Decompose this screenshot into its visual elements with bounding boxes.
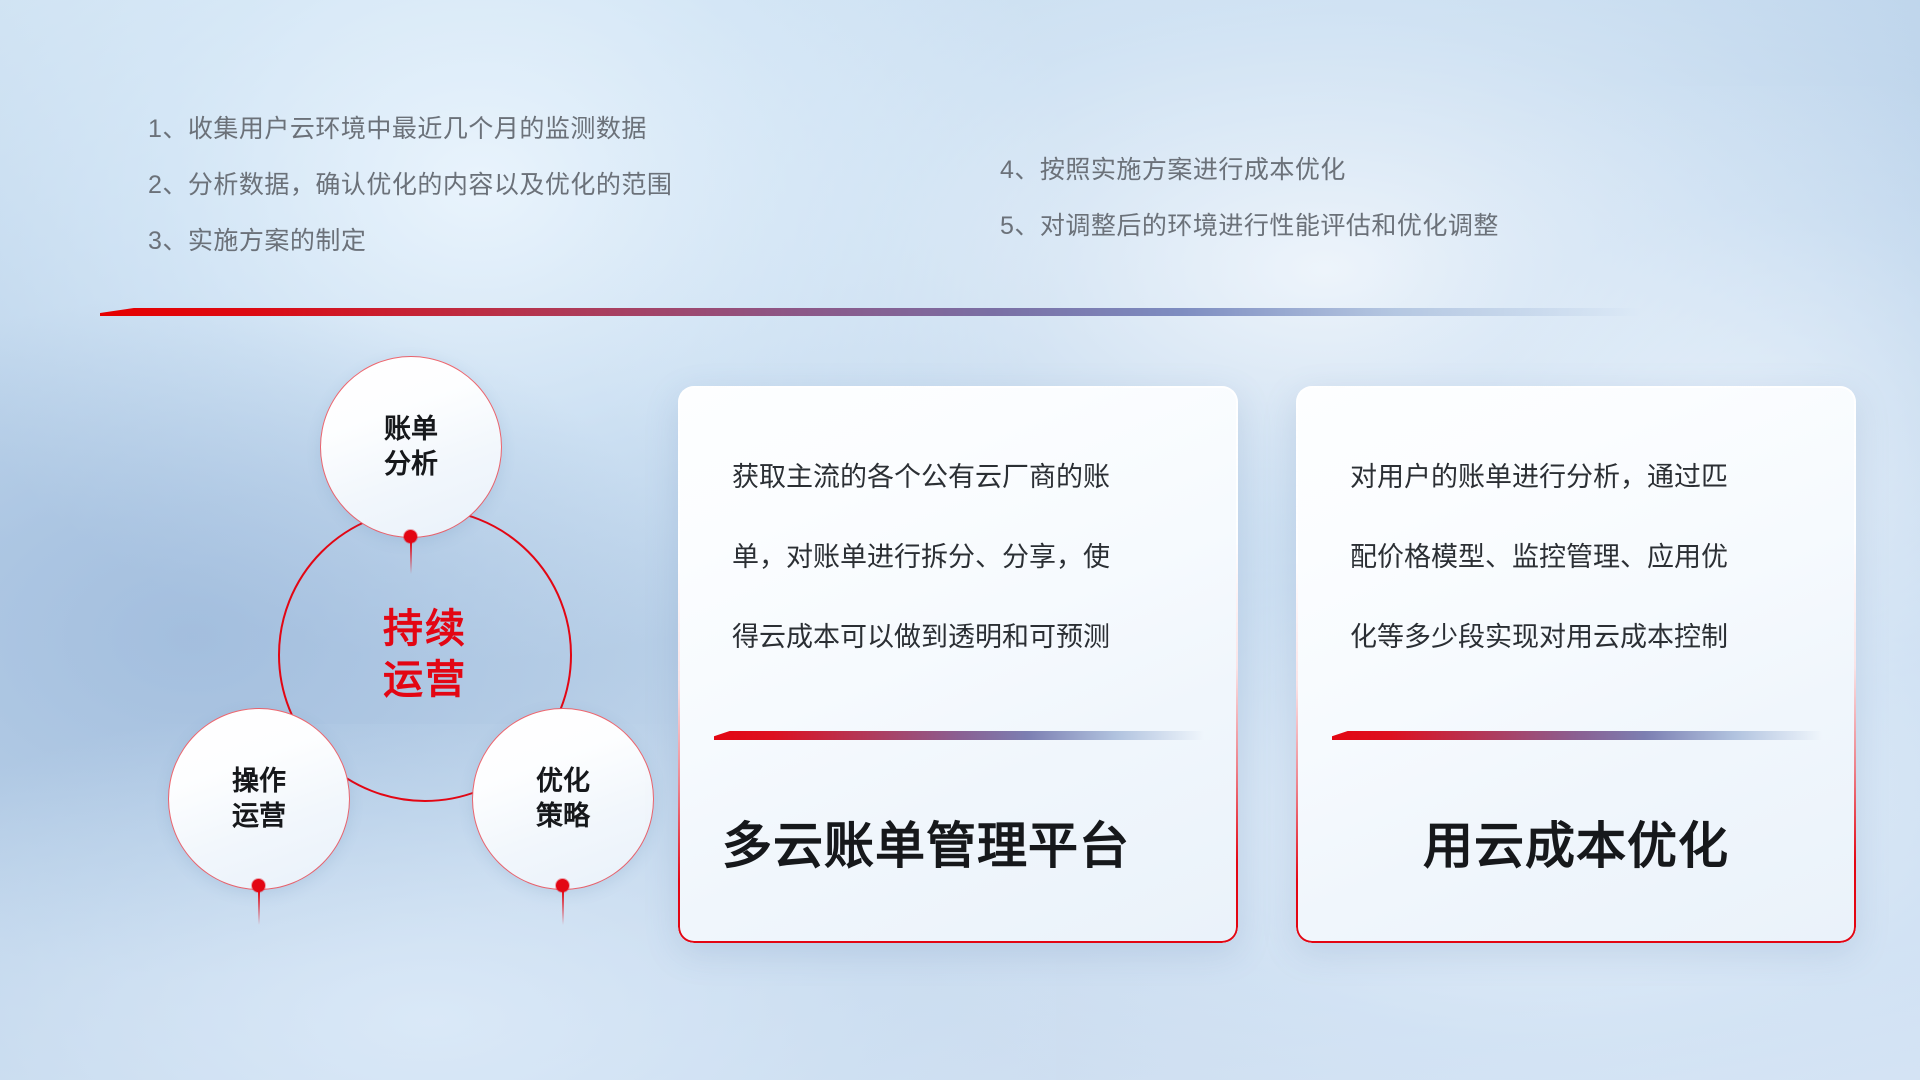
feature-card-title-2: 用云成本优化 <box>1296 806 1856 878</box>
cycle-bubble-left-line-2: 运营 <box>232 799 286 834</box>
feature-card-1-line-3: 得云成本可以做到透明和可预测 <box>732 624 1190 651</box>
feature-card-accent-rule-bar-2 <box>1332 731 1822 740</box>
feature-card-2-line-1: 对用户的账单进行分析，通过匹 <box>1350 464 1808 491</box>
feature-card-accent-rule-bar-1 <box>714 731 1204 740</box>
step-item-2: 2、分析数据，确认优化的内容以及优化的范围 <box>148 173 672 198</box>
feature-card-1-line-2: 单，对账单进行拆分、分享，使 <box>732 544 1190 571</box>
feature-card-accent-rule-1 <box>714 731 1204 740</box>
cycle-node-tail-right <box>562 891 564 925</box>
step-item-5: 5、对调整后的环境进行性能评估和优化调整 <box>1000 214 1499 239</box>
feature-card-2-line-2: 配价格模型、监控管理、应用优 <box>1350 544 1808 571</box>
cycle-node-tail-left <box>258 891 260 925</box>
cycle-bubble-right-line-2: 策略 <box>536 799 590 834</box>
steps-list-right: 4、按照实施方案进行成本优化 5、对调整后的环境进行性能评估和优化调整 <box>1000 158 1499 239</box>
cycle-bubble-right-line-1: 优化 <box>536 764 590 799</box>
cycle-bubble-top-line-1: 账单 <box>384 412 438 447</box>
step-item-4: 4、按照实施方案进行成本优化 <box>1000 158 1499 183</box>
step-item-3: 3、实施方案的制定 <box>148 229 672 254</box>
feature-card-2-line-3: 化等多少段实现对用云成本控制 <box>1350 624 1808 651</box>
feature-card-1-line-1: 获取主流的各个公有云厂商的账 <box>732 464 1190 491</box>
cycle-bubble-top[interactable]: 账单 分析 <box>320 356 502 538</box>
feature-card-cloud-cost-optimization[interactable]: 对用户的账单进行分析，通过匹 配价格模型、监控管理、应用优 化等多少段实现对用云… <box>1296 386 1856 943</box>
feature-card-multicloud-billing[interactable]: 获取主流的各个公有云厂商的账 单，对账单进行拆分、分享，使 得云成本可以做到透明… <box>678 386 1238 943</box>
cycle-center-line-2: 运营 <box>383 655 467 706</box>
section-divider <box>100 305 1640 319</box>
cycle-center-line-1: 持续 <box>383 604 467 655</box>
feature-card-description-1: 获取主流的各个公有云厂商的账 单，对账单进行拆分、分享，使 得云成本可以做到透明… <box>732 464 1190 651</box>
feature-card-description-2: 对用户的账单进行分析，通过匹 配价格模型、监控管理、应用优 化等多少段实现对用云… <box>1350 464 1808 651</box>
step-item-1: 1、收集用户云环境中最近几个月的监测数据 <box>148 117 672 142</box>
cycle-node-tail-top <box>410 542 412 574</box>
slide-canvas: 1、收集用户云环境中最近几个月的监测数据 2、分析数据，确认优化的内容以及优化的… <box>0 0 1920 1080</box>
feature-card-accent-rule-2 <box>1332 731 1822 740</box>
cycle-diagram: 持续 运营 账单 分析 操作 运营 优化 策略 <box>96 348 656 948</box>
cycle-bubble-top-line-2: 分析 <box>384 447 438 482</box>
section-divider-bar <box>100 308 1640 316</box>
cycle-bubble-right[interactable]: 优化 策略 <box>472 708 654 890</box>
feature-card-title-1: 多云账单管理平台 <box>722 806 1130 878</box>
steps-list-left: 1、收集用户云环境中最近几个月的监测数据 2、分析数据，确认优化的内容以及优化的… <box>148 117 672 254</box>
cycle-bubble-left-line-1: 操作 <box>232 764 286 799</box>
cycle-bubble-left[interactable]: 操作 运营 <box>168 708 350 890</box>
